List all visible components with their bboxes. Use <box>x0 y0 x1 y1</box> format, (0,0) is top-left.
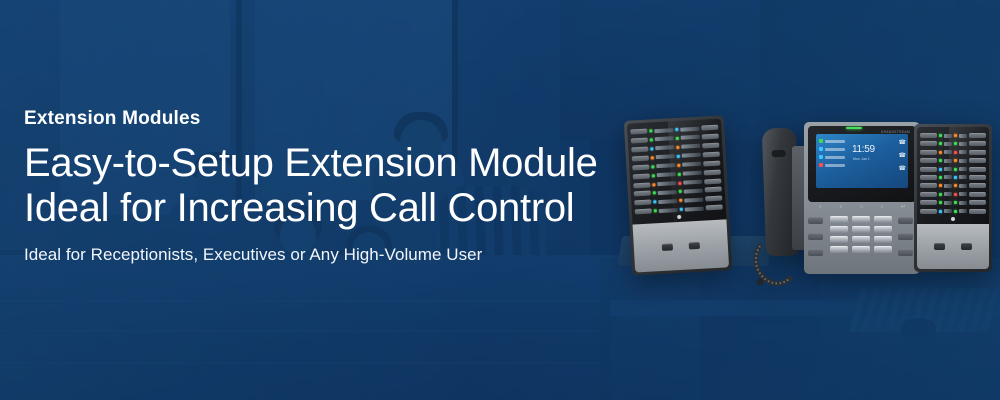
softkey-back-icon: ↩ <box>901 204 905 210</box>
keypad-key <box>852 216 870 223</box>
module-label-column-right <box>675 126 704 213</box>
softkey-icon: ○ <box>860 204 863 210</box>
keypad-key <box>874 246 892 253</box>
keypad-key <box>874 226 892 233</box>
keypad-key <box>830 216 848 223</box>
attached-extension-module <box>914 124 992 272</box>
screen-line-list <box>819 139 845 171</box>
keypad-key <box>830 226 848 233</box>
phone-cord-icon <box>754 244 804 288</box>
module-right-sidekeys <box>969 133 986 214</box>
keypad-key <box>874 216 892 223</box>
keypad-key <box>852 246 870 253</box>
keypad-key <box>830 236 848 243</box>
module-label-column-right <box>954 133 967 214</box>
phone-status-led <box>846 127 862 129</box>
phone-left-function-keys <box>808 217 823 256</box>
handset-earpiece <box>772 150 786 157</box>
module-base-button <box>934 243 945 250</box>
phone-keypad <box>830 216 892 253</box>
phone-right-function-keys <box>898 217 913 256</box>
phone-softkey-row: ○ ○ ○ ○ ↩ <box>810 204 914 210</box>
module-base-button <box>689 242 700 250</box>
page-title: Easy-to-Setup Extension Module Ideal for… <box>24 141 624 231</box>
softkey-icon: ○ <box>880 204 883 210</box>
eyebrow-label: Extension Modules <box>24 108 624 130</box>
screen-date: Mon, Jan 1 <box>853 157 870 161</box>
module-label-column-left <box>939 133 952 214</box>
hero-copy: Extension Modules Easy-to-Setup Extensio… <box>24 108 624 265</box>
phone-lcd-screen: 11:59 Mon, Jan 1 ☎ ☎ ☎ <box>816 134 908 188</box>
module-base-stand <box>633 220 730 273</box>
ip-phone-product-image: GRANDSTREAM 11:59 Mon, Jan 1 ☎ ☎ ☎ ○ ○ ○… <box>758 122 990 282</box>
module-base-stand <box>917 224 989 269</box>
keypad-key <box>874 236 892 243</box>
module-page-indicator <box>951 217 955 221</box>
screen-call-icons: ☎ ☎ ☎ <box>899 140 906 172</box>
module-shell <box>624 115 732 275</box>
module-left-sidekeys <box>630 129 652 215</box>
softkey-icon: ○ <box>819 204 822 210</box>
phone-handset-icon: ☎ <box>899 166 906 172</box>
phone-handset-icon: ☎ <box>899 153 906 159</box>
keypad-key <box>852 226 870 233</box>
module-left-sidekeys <box>920 133 937 214</box>
softkey-icon: ○ <box>839 204 842 210</box>
subtitle-text: Ideal for Receptionists, Executives or A… <box>24 245 624 265</box>
screen-clock: 11:59 <box>852 144 875 155</box>
module-base-button <box>961 243 972 250</box>
extension-module-product-image <box>624 115 732 275</box>
keypad-key <box>830 246 848 253</box>
keypad-key <box>852 236 870 243</box>
module-keypad-face <box>627 118 727 224</box>
hero-banner: Extension Modules Easy-to-Setup Extensio… <box>0 0 1000 400</box>
module-base-button <box>662 243 673 251</box>
module-label-column-left <box>649 127 678 214</box>
phone-handset-icon: ☎ <box>899 140 906 146</box>
